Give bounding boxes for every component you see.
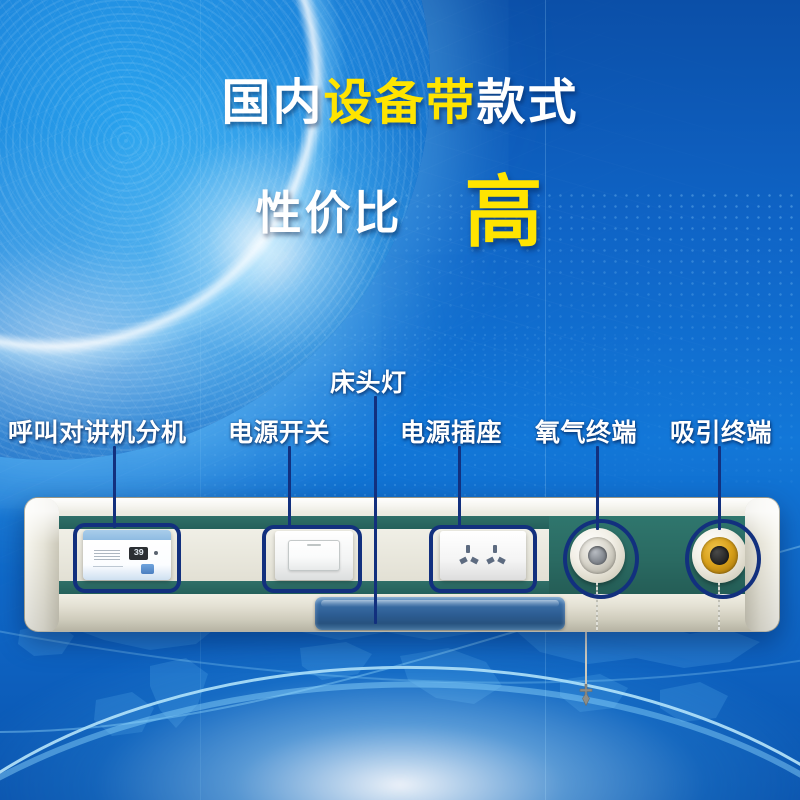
- panel-end-cap-left: [25, 498, 59, 632]
- nurse-call-pull-cord[interactable]: [585, 630, 587, 690]
- highlight-power-socket: [429, 525, 537, 593]
- headline-line-1: 国内设备带款式: [0, 78, 800, 130]
- bedside-lamp-diffuser[interactable]: [315, 597, 565, 630]
- end-cap-sheen: [25, 498, 59, 632]
- callout-label-intercom: 呼叫对讲机分机: [8, 413, 187, 449]
- headline-subtext: 性价比: [255, 187, 402, 239]
- headline-accent-big: 高: [464, 168, 544, 256]
- leader-line-power-socket: [458, 446, 461, 528]
- headline-block: 国内设备带款式 性价比高: [0, 78, 800, 262]
- leader-line-suction: [718, 446, 721, 530]
- callout-label-power-switch: 电源开关: [228, 413, 330, 449]
- leader-line-intercom: [113, 446, 116, 528]
- leader-line-power-switch: [288, 446, 291, 528]
- highlight-intercom: [73, 523, 181, 593]
- headline-part-1: 国内: [221, 76, 323, 130]
- panel-top-highlight: [25, 498, 779, 512]
- leader-line-bedside-lamp: [374, 396, 377, 624]
- headline-part-2-accent: 设备带: [323, 76, 476, 130]
- highlight-oxygen: [563, 519, 639, 599]
- pull-cord-handle-icon[interactable]: [578, 684, 594, 706]
- promo-banner: 国内设备带款式 性价比高 呼叫对讲机分机 电源开关 床头灯 电源插座 氧气终端 …: [0, 0, 800, 800]
- callout-label-power-socket: 电源插座: [400, 413, 502, 449]
- highlight-power-switch: [262, 525, 362, 593]
- headline-line-2: 性价比高: [0, 150, 800, 262]
- callout-label-suction: 吸引终端: [670, 413, 772, 449]
- leader-line-oxygen: [596, 446, 599, 530]
- headline-part-3: 款式: [477, 76, 579, 130]
- callout-label-bedside-lamp: 床头灯: [330, 363, 407, 399]
- callout-label-oxygen: 氧气终端: [535, 413, 637, 449]
- lamp-highlight: [321, 600, 559, 607]
- highlight-suction: [685, 519, 761, 599]
